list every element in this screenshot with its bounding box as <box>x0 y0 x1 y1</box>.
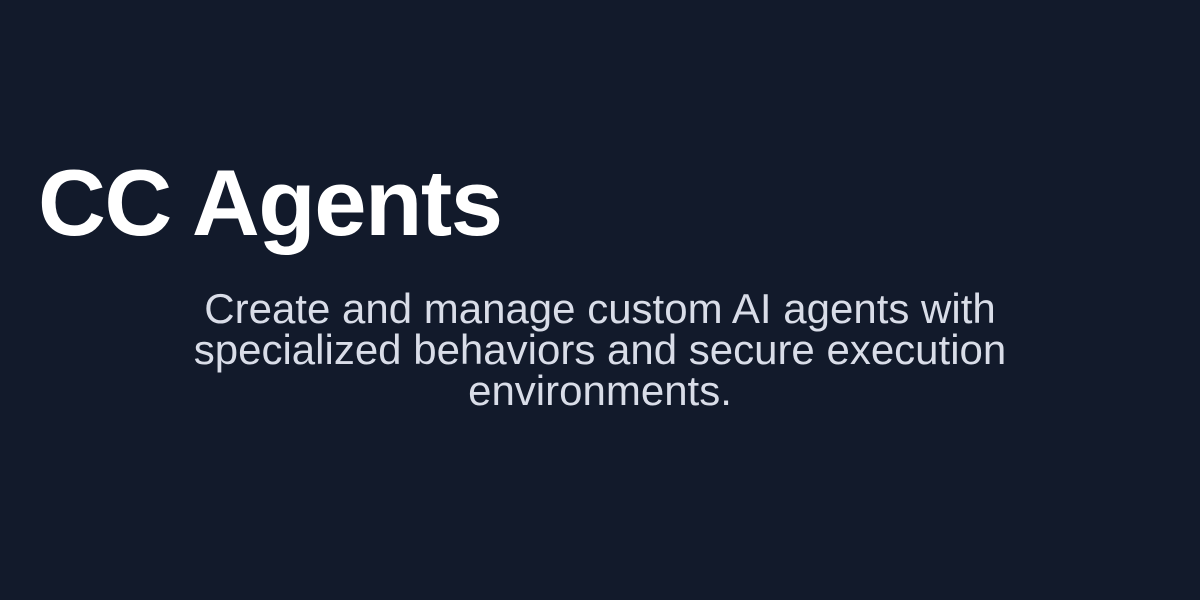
page-subtitle-line-1: Create and manage custom AI agents with <box>40 288 1160 329</box>
page-subtitle-line-2: specialized behaviors and secure executi… <box>40 329 1160 370</box>
page-title: CC Agents <box>38 156 501 250</box>
cc-agents-hero-screen: CC Agents Create and manage custom AI ag… <box>0 0 1200 600</box>
hero-content: CC Agents Create and manage custom AI ag… <box>0 0 1200 600</box>
page-subtitle-line-3: environments. <box>40 370 1160 411</box>
page-subtitle: Create and manage custom AI agents with … <box>0 288 1200 411</box>
